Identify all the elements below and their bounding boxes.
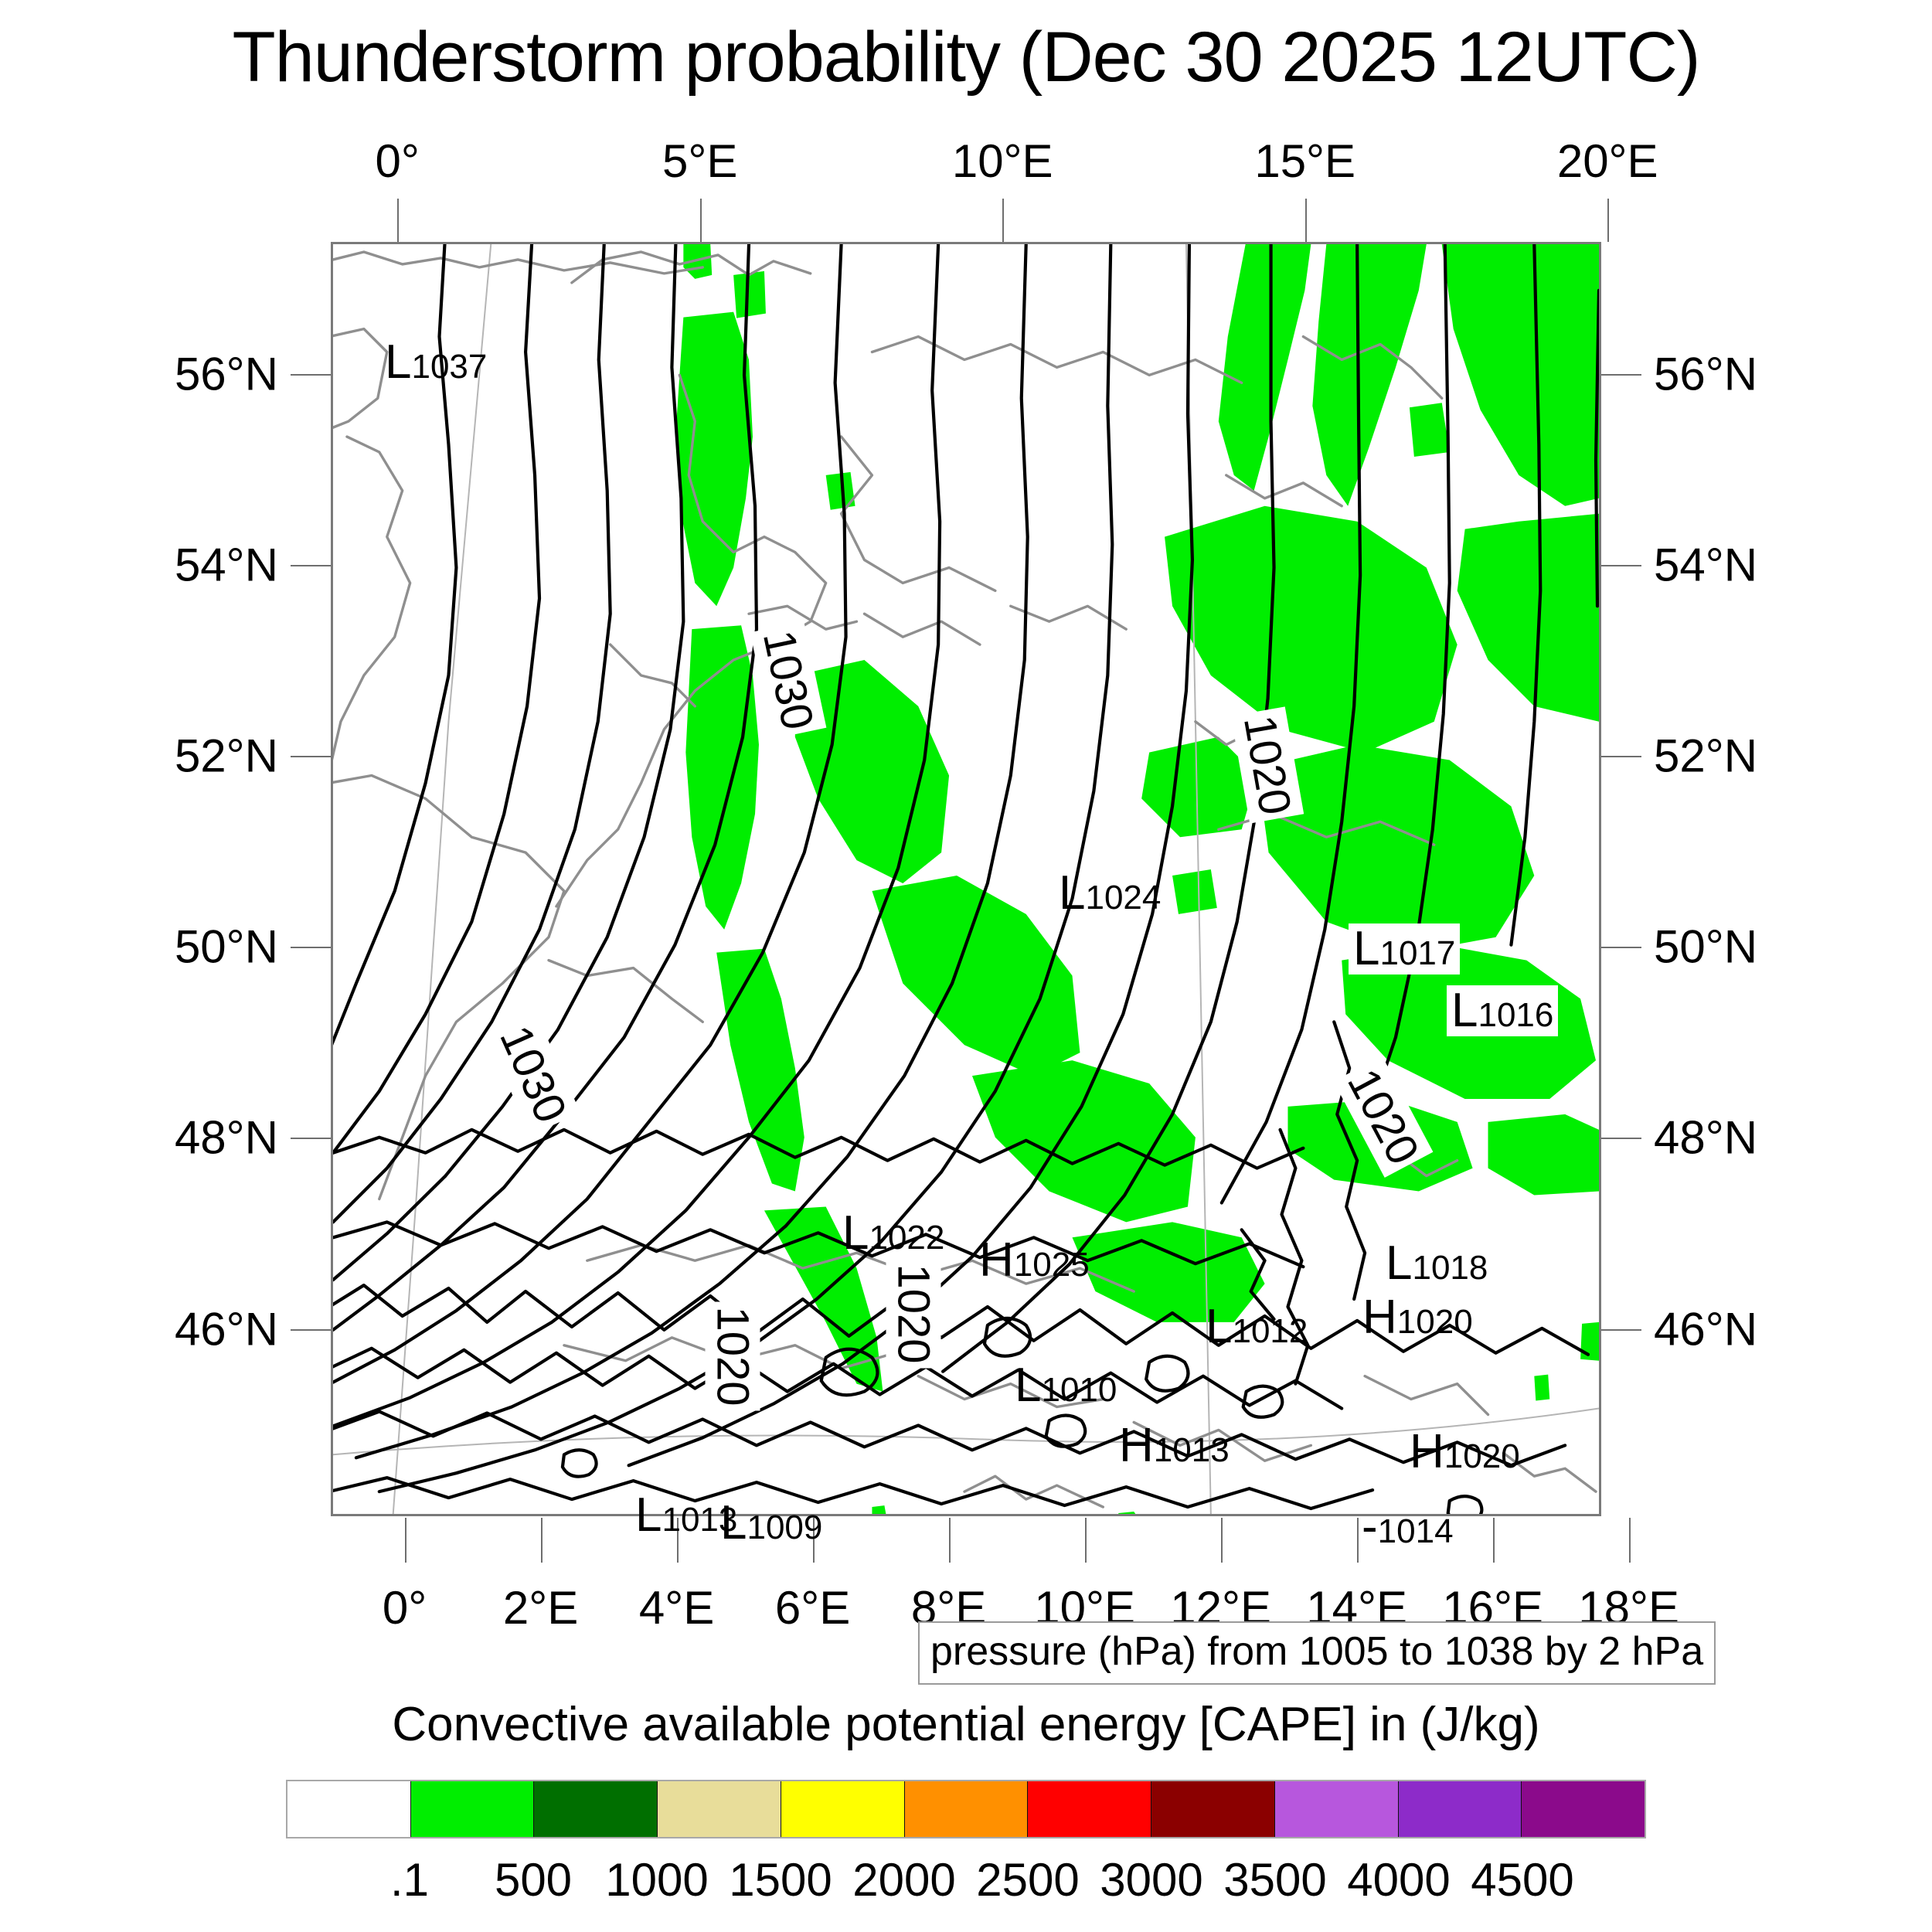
pressure-center-type: L — [1059, 866, 1085, 920]
pressure-center-type: L — [1386, 1236, 1412, 1290]
pressure-center-label: H1020 — [1410, 1428, 1520, 1476]
pressure-center-label: L1016 — [1447, 985, 1558, 1036]
lon-tick-label-bottom: 4°E — [639, 1581, 714, 1634]
lon-tick-label-bottom: 6°E — [775, 1581, 850, 1634]
axis-tick — [291, 756, 331, 757]
colorbar-swatch[interactable] — [410, 1781, 534, 1837]
pressure-center-value: 1020 — [1397, 1303, 1473, 1341]
axis-tick — [1305, 199, 1307, 242]
pressure-center-value: 1013 — [1154, 1431, 1230, 1469]
pressure-center-value: 1010 — [1041, 1371, 1117, 1409]
lat-tick-label-left: 54°N — [175, 538, 278, 591]
pressure-center-value: 1012 — [1232, 1312, 1308, 1350]
pressure-center-value: 1022 — [869, 1219, 944, 1257]
lon-tick-label-top: 0° — [376, 134, 420, 188]
isobar-value-label: 1020 — [886, 1259, 941, 1368]
lat-tick-label-left: 52°N — [175, 729, 278, 782]
colorbar-swatch[interactable] — [533, 1781, 657, 1837]
axis-tick — [1601, 947, 1641, 948]
axis-tick — [700, 199, 702, 242]
lon-tick-label-top: 20°E — [1557, 134, 1658, 188]
lon-tick-label-top: 15°E — [1254, 134, 1355, 188]
axis-tick — [291, 1329, 331, 1331]
pressure-center-type: L — [720, 1496, 747, 1549]
pressure-center-type: L — [1206, 1300, 1232, 1353]
lat-tick-label-left: 46°N — [175, 1302, 278, 1355]
axis-tick — [1002, 199, 1004, 242]
colorbar-swatch[interactable] — [1398, 1781, 1522, 1837]
pressure-center-label: -1014 — [1362, 1503, 1454, 1551]
pressure-center-label: H1020 — [1362, 1294, 1473, 1342]
axis-tick — [1493, 1518, 1495, 1563]
lon-tick-label-bottom: 0° — [383, 1581, 427, 1634]
axis-tick — [291, 1138, 331, 1139]
pressure-center-type: H — [979, 1233, 1014, 1287]
pressure-center-value: 1037 — [411, 348, 487, 386]
pressure-center-type: L — [635, 1488, 662, 1542]
axis-tick — [405, 1518, 406, 1563]
lat-tick-label-left: 50°N — [175, 920, 278, 974]
pressure-center-value: 1017 — [1379, 934, 1455, 972]
axis-tick — [397, 199, 399, 242]
axis-tick — [291, 374, 331, 376]
pressure-center-label: L1037 — [385, 338, 487, 386]
lat-tick-label-right: 56°N — [1654, 347, 1757, 400]
pressure-center-value: 1009 — [747, 1509, 822, 1546]
pressure-caption: pressure (hPa) from 1005 to 1038 by 2 hP… — [918, 1621, 1716, 1685]
pressure-center-type: - — [1362, 1500, 1378, 1553]
isobar-value-label: 1020 — [706, 1301, 760, 1410]
pressure-center-label: L1017 — [1349, 923, 1460, 975]
pressure-center-type: L — [842, 1206, 869, 1260]
colorbar-tick-label: 3000 — [1100, 1853, 1202, 1906]
axis-tick — [1601, 374, 1641, 376]
lat-tick-label-right: 46°N — [1654, 1302, 1757, 1355]
axis-tick — [291, 565, 331, 566]
lat-tick-label-right: 52°N — [1654, 729, 1757, 782]
pressure-center-label: L1010 — [1015, 1362, 1117, 1410]
axis-tick — [949, 1518, 951, 1563]
colorbar-tick-label: 1500 — [729, 1853, 832, 1906]
pressure-center-value: 1024 — [1085, 879, 1161, 917]
pressure-center-value: 1020 — [1444, 1437, 1520, 1475]
axis-tick — [1221, 1518, 1223, 1563]
pressure-center-type: H — [1119, 1419, 1154, 1472]
lon-tick-label-bottom: 2°E — [503, 1581, 578, 1634]
pressure-center-value: 1018 — [1412, 1249, 1488, 1287]
colorbar-swatch[interactable] — [287, 1781, 410, 1837]
axis-tick — [1601, 756, 1641, 757]
pressure-center-label: L1009 — [720, 1499, 822, 1547]
colorbar-tick-label: 1000 — [605, 1853, 708, 1906]
pressure-center-label: H1025 — [979, 1236, 1090, 1284]
pressure-center-value: 1025 — [1014, 1246, 1090, 1284]
page-title: Thunderstorm probability (Dec 30 2025 12… — [0, 17, 1932, 98]
pressure-center-type: L — [385, 335, 411, 389]
pressure-center-label: L1012 — [1206, 1303, 1308, 1351]
colorbar-swatch[interactable] — [1151, 1781, 1274, 1837]
pressure-center-label: H1013 — [1119, 1422, 1230, 1470]
pressure-center-value: 1016 — [1478, 996, 1553, 1034]
axis-tick — [1629, 1518, 1631, 1563]
colorbar-swatch[interactable] — [904, 1781, 1028, 1837]
lat-tick-label-right: 54°N — [1654, 538, 1757, 591]
pressure-center-type: H — [1362, 1291, 1397, 1344]
colorbar-swatch[interactable] — [657, 1781, 781, 1837]
colorbar-swatch[interactable] — [781, 1781, 904, 1837]
pressure-center-type: L — [1015, 1359, 1041, 1412]
pressure-center-type: H — [1410, 1425, 1444, 1478]
lat-tick-label-right: 48°N — [1654, 1111, 1757, 1165]
colorbar-tick-label: 500 — [495, 1853, 572, 1906]
lat-tick-label-left: 48°N — [175, 1111, 278, 1165]
colorbar-swatch[interactable] — [1274, 1781, 1398, 1837]
cape-caption: Convective available potential energy [C… — [0, 1697, 1932, 1752]
colorbar-tick-label: 3500 — [1223, 1853, 1326, 1906]
colorbar-swatch[interactable] — [1027, 1781, 1151, 1837]
pressure-center-label: L1022 — [842, 1209, 944, 1257]
axis-tick — [541, 1518, 543, 1563]
pressure-center-type: L — [1353, 922, 1379, 975]
axis-tick — [1601, 1138, 1641, 1139]
axis-tick — [1607, 199, 1609, 242]
colorbar-tick-label: 4000 — [1347, 1853, 1450, 1906]
cape-colorbar[interactable] — [286, 1780, 1646, 1838]
pressure-center-value: 1014 — [1378, 1512, 1454, 1550]
colorbar-tick-label: .1 — [390, 1853, 429, 1906]
pressure-center-label: L1018 — [1386, 1240, 1488, 1287]
colorbar-tick-label: 4500 — [1471, 1853, 1573, 1906]
axis-tick — [1357, 1518, 1359, 1563]
lat-tick-label-right: 50°N — [1654, 920, 1757, 974]
lon-tick-label-top: 5°E — [662, 134, 737, 188]
lat-tick-label-left: 56°N — [175, 347, 278, 400]
axis-tick — [1601, 1329, 1641, 1331]
pressure-center-type: L — [1451, 984, 1478, 1037]
axis-tick — [291, 947, 331, 948]
pressure-center-label: L1024 — [1059, 869, 1161, 917]
colorbar-tick-label: 2500 — [976, 1853, 1079, 1906]
axis-tick — [1601, 565, 1641, 566]
colorbar-swatch[interactable] — [1521, 1781, 1645, 1837]
lon-tick-label-top: 10°E — [952, 134, 1053, 188]
colorbar-tick-label: 2000 — [852, 1853, 955, 1906]
axis-tick — [1085, 1518, 1087, 1563]
